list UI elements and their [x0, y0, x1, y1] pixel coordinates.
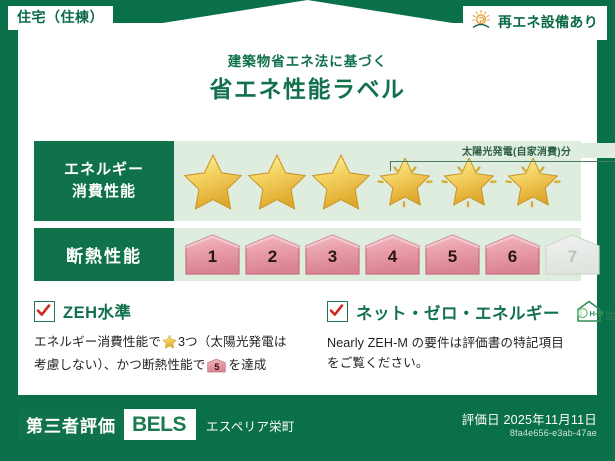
- building-name: エスペリア栄町: [206, 416, 295, 435]
- grade-badge: 4: [364, 234, 421, 275]
- insulation-grade-scale: 1 2 3: [174, 228, 601, 281]
- grade-badge-value: 7: [544, 234, 601, 275]
- zeh-m-logo-sub: Nearly ZEH-M: [606, 312, 615, 325]
- renewable-badge-label: 再エネ設備あり: [498, 15, 598, 30]
- star-icon-solar: [438, 150, 500, 212]
- bels-label: BELS: [124, 409, 196, 440]
- nze-criterion-body: Nearly ZEH-M の要件は評価書の特記項目をご覧ください。: [327, 333, 572, 374]
- star-icon-solar: [374, 150, 436, 212]
- grade-badge: 2: [244, 234, 301, 275]
- energy-row-label: エネルギー 消費性能: [34, 141, 174, 221]
- zeh-body-part3: を達成: [228, 358, 266, 372]
- grade-badge-inline: 5: [207, 358, 226, 373]
- grade-badge-value: 5: [424, 234, 481, 275]
- star-icon-solar: [502, 150, 564, 212]
- title-main: 省エネ性能ラベル: [18, 76, 597, 104]
- criteria-section: ZEH水準 エネルギー消費性能で3つ（太陽光発電は考慮しない）、かつ断熱性能で5…: [34, 299, 581, 385]
- grade-badge-value: 4: [364, 234, 421, 275]
- zeh-m-sub-line2: ZEH-M: [606, 316, 615, 322]
- zeh-criterion-title: ZEH水準: [63, 299, 132, 323]
- insulation-performance-row: 断熱性能: [34, 228, 581, 281]
- check-icon: [34, 301, 55, 322]
- energy-row-label-line1: エネルギー: [64, 159, 144, 181]
- building-type-label: 住宅（住棟）: [17, 9, 104, 25]
- star-icon: [310, 150, 372, 212]
- insulation-row-label: 断熱性能: [34, 228, 174, 281]
- check-icon: [327, 301, 348, 322]
- title-block: 建築物省エネ法に基づく 省エネ性能ラベル: [18, 54, 597, 104]
- nze-criterion-title: ネット・ゼロ・エネルギー: [356, 300, 560, 324]
- energy-performance-label: 住宅（住棟） 再エネ設備あり 建築物省エネ: [0, 0, 615, 461]
- zeh-m-logo: H-M Nearly ZEH-M: [574, 299, 615, 324]
- grade-badge-value: 3: [304, 234, 361, 275]
- star-icon: [246, 150, 308, 212]
- grade-badge-value: 6: [484, 234, 541, 275]
- grade-badge: 6: [484, 234, 541, 275]
- sun-icon: [470, 9, 492, 36]
- title-subtitle: 建築物省エネ法に基づく: [18, 54, 597, 70]
- energy-row-label-line2: 消費性能: [72, 181, 136, 203]
- star-icon-inline: [162, 334, 177, 355]
- evaluation-date-value: 2025年11月11日: [504, 413, 597, 427]
- nze-criterion: ネット・ゼロ・エネルギー H-M Nearly ZEH-M: [307, 299, 580, 385]
- star-rating: 太陽光発電(自家消費)分: [174, 141, 581, 221]
- footer-bar: 第三者評価 BELS エスペリア栄町 評価日 2025年11月11日 8fa4e…: [0, 395, 615, 461]
- evaluation-id: 8fa4e656-e3ab-47ae: [510, 428, 597, 438]
- grade-badge-inline-value: 5: [207, 358, 226, 373]
- svg-text:H-M: H-M: [590, 309, 604, 318]
- label-body: 建築物省エネ法に基づく 省エネ性能ラベル エネルギー 消費性能: [18, 23, 597, 395]
- star-icon: [182, 150, 244, 212]
- zeh-criterion-body: エネルギー消費性能で3つ（太陽光発電は考慮しない）、かつ断熱性能で5を達成: [34, 332, 299, 376]
- evaluation-date-label: 評価日: [462, 413, 500, 427]
- building-type-badge: 住宅（住棟）: [8, 6, 113, 30]
- grade-badge-inactive: 7: [544, 234, 601, 275]
- bels-certification-mark: 第三者評価 BELS: [18, 409, 196, 440]
- renewable-equipment-badge: 再エネ設備あり: [463, 6, 607, 40]
- nze-criterion-header: ネット・ゼロ・エネルギー H-M Nearly ZEH-M: [327, 299, 572, 324]
- evaluation-date: 評価日 2025年11月11日: [462, 409, 597, 428]
- third-party-label: 第三者評価: [18, 409, 124, 440]
- grade-badge: 5: [424, 234, 481, 275]
- zeh-criterion: ZEH水準 エネルギー消費性能で3つ（太陽光発電は考慮しない）、かつ断熱性能で5…: [34, 299, 307, 385]
- grade-badge-value: 2: [244, 234, 301, 275]
- energy-performance-row: エネルギー 消費性能: [34, 141, 581, 221]
- zeh-criterion-header: ZEH水準: [34, 299, 299, 323]
- grade-badge-value: 1: [184, 234, 241, 275]
- grade-badge: 3: [304, 234, 361, 275]
- grade-badge: 1: [184, 234, 241, 275]
- zeh-body-part1: エネルギー消費性能で: [34, 335, 161, 349]
